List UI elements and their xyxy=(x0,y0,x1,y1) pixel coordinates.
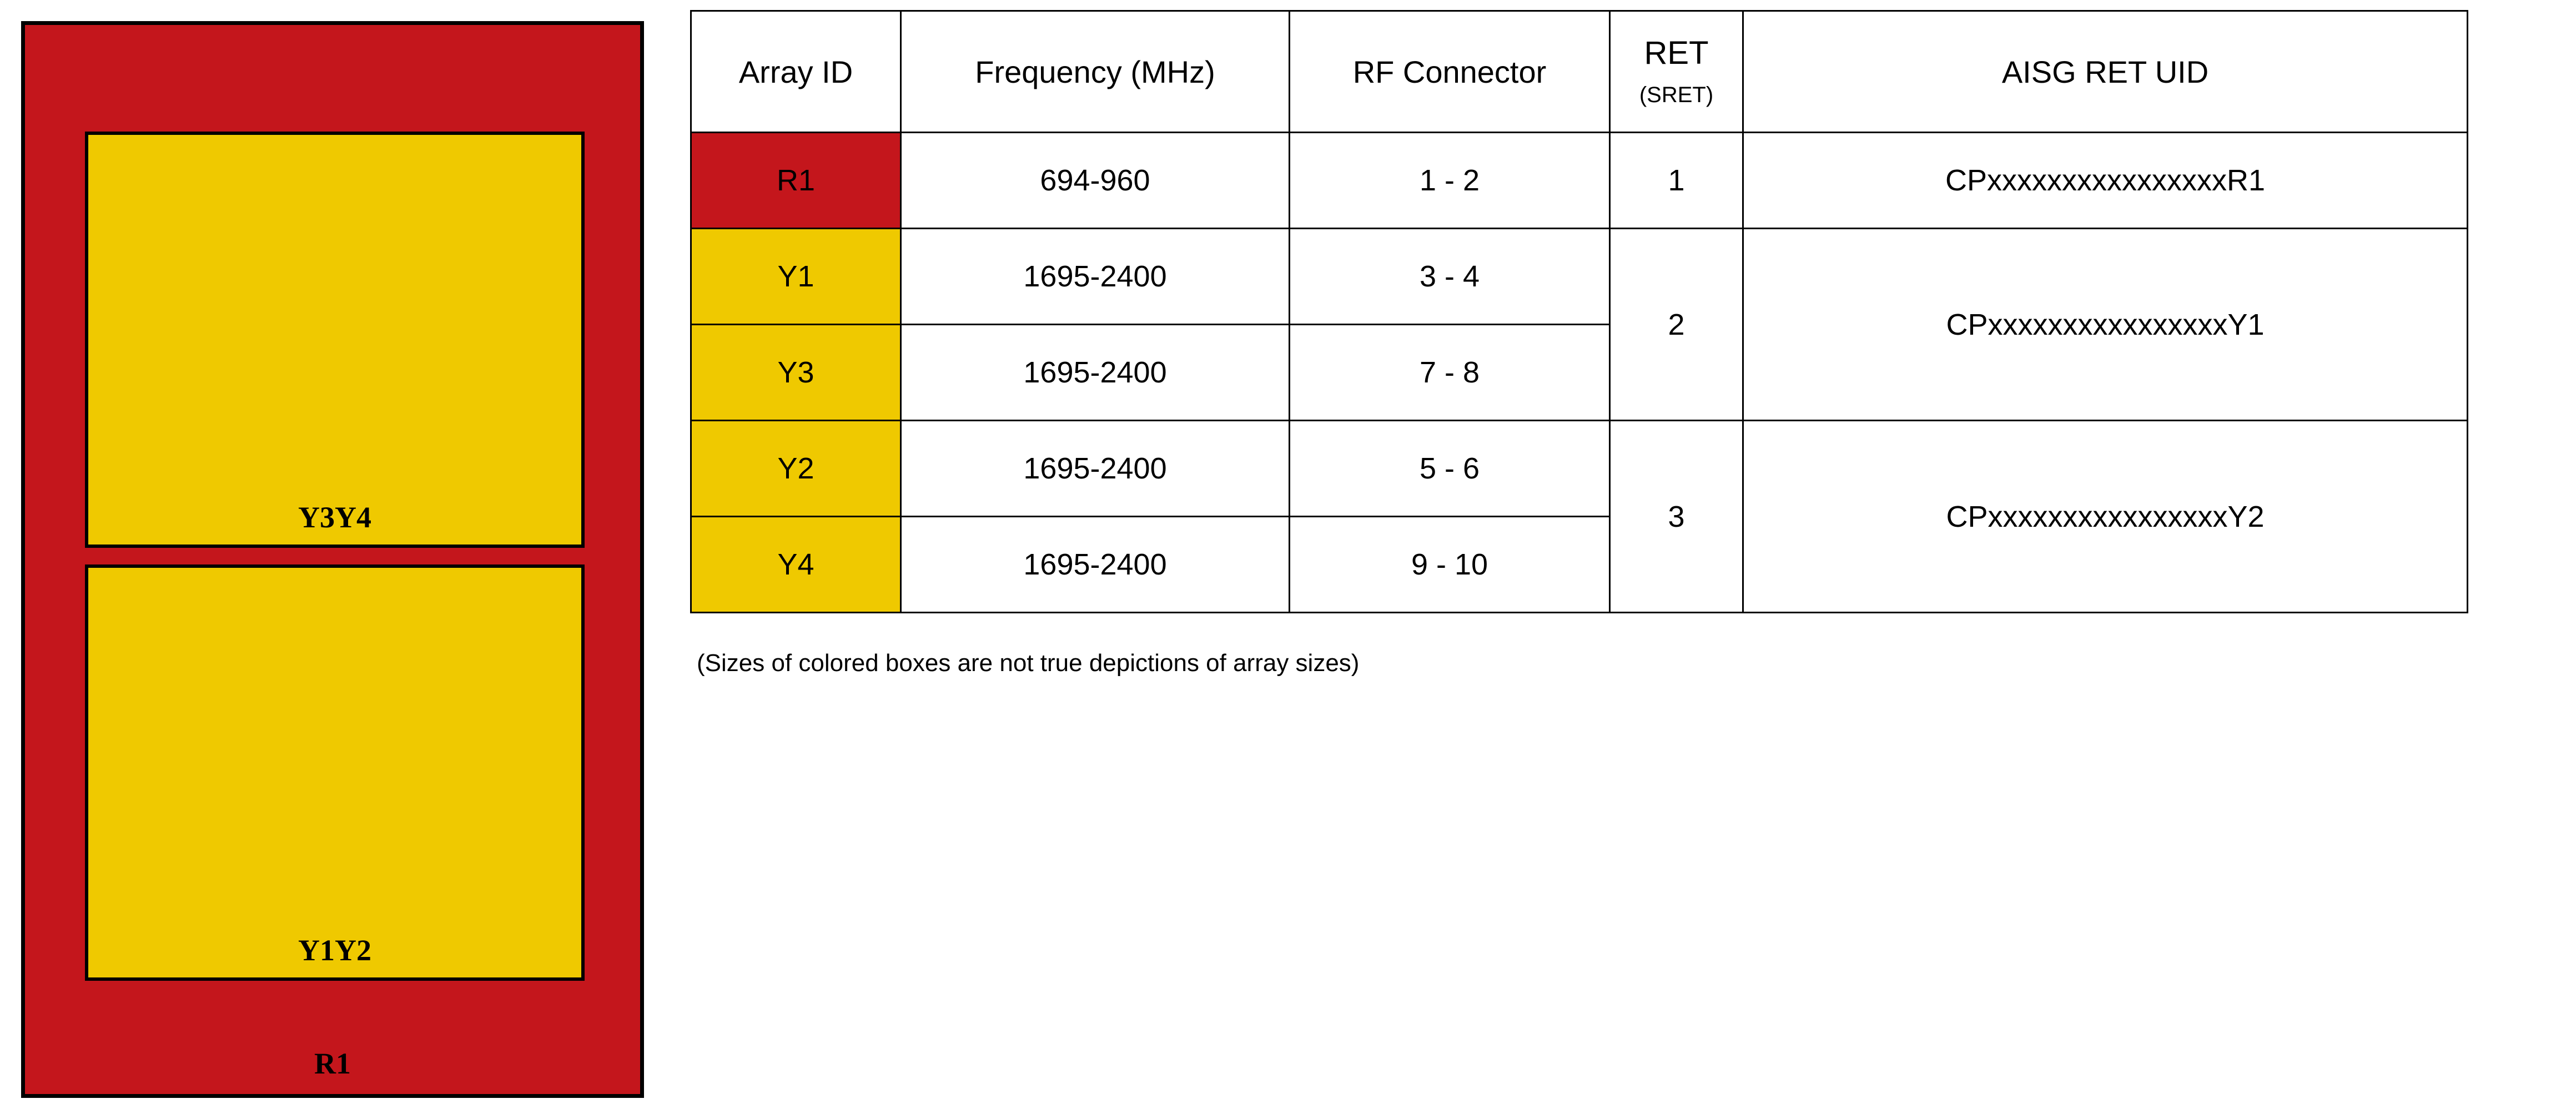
cell-rf-connector: 5 - 6 xyxy=(1290,421,1610,517)
cell-rf-connector: 1 - 2 xyxy=(1290,133,1610,229)
column-header-aisg-ret-uid: AISG RET UID xyxy=(1743,11,2468,133)
table-row: Y21695-24005 - 63CPxxxxxxxxxxxxxxxxY2 xyxy=(691,421,2468,517)
cell-frequency: 694-960 xyxy=(901,133,1290,229)
table-body: R1694-9601 - 21CPxxxxxxxxxxxxxxxxR1Y1169… xyxy=(691,133,2468,613)
cell-ret: 2 xyxy=(1610,229,1743,421)
table-row: Y11695-24003 - 42CPxxxxxxxxxxxxxxxxY1 xyxy=(691,229,2468,325)
array-box-y3y4: Y3Y4 xyxy=(85,132,585,548)
cell-frequency: 1695-2400 xyxy=(901,517,1290,613)
cell-frequency: 1695-2400 xyxy=(901,229,1290,325)
antenna-array-diagram: Y3Y4 Y1Y2 R1 xyxy=(21,21,644,1098)
cell-frequency: 1695-2400 xyxy=(901,325,1290,421)
cell-aisg-ret-uid: CPxxxxxxxxxxxxxxxxY2 xyxy=(1743,421,2468,613)
cell-array-id: R1 xyxy=(691,133,901,229)
array-spec-table: Array ID Frequency (MHz) RF Connector RE… xyxy=(690,10,2468,613)
column-header-rf-connector: RF Connector xyxy=(1290,11,1610,133)
table-row: R1694-9601 - 21CPxxxxxxxxxxxxxxxxR1 xyxy=(691,133,2468,229)
column-header-array-id: Array ID xyxy=(691,11,901,133)
column-header-ret-main: RET xyxy=(1611,37,1742,69)
cell-aisg-ret-uid: CPxxxxxxxxxxxxxxxxR1 xyxy=(1743,133,2468,229)
cell-frequency: 1695-2400 xyxy=(901,421,1290,517)
size-disclaimer-note: (Sizes of colored boxes are not true dep… xyxy=(697,649,1359,677)
column-header-frequency: Frequency (MHz) xyxy=(901,11,1290,133)
column-header-ret-sub: (SRET) xyxy=(1611,84,1742,106)
cell-array-id: Y2 xyxy=(691,421,901,517)
cell-array-id: Y1 xyxy=(691,229,901,325)
radome-label: R1 xyxy=(25,1049,640,1078)
cell-array-id: Y4 xyxy=(691,517,901,613)
cell-ret: 3 xyxy=(1610,421,1743,613)
cell-aisg-ret-uid: CPxxxxxxxxxxxxxxxxY1 xyxy=(1743,229,2468,421)
cell-ret: 1 xyxy=(1610,133,1743,229)
table-header: Array ID Frequency (MHz) RF Connector RE… xyxy=(691,11,2468,133)
table-header-row: Array ID Frequency (MHz) RF Connector RE… xyxy=(691,11,2468,133)
cell-rf-connector: 3 - 4 xyxy=(1290,229,1610,325)
cell-rf-connector: 7 - 8 xyxy=(1290,325,1610,421)
column-header-ret: RET (SRET) xyxy=(1610,11,1743,133)
cell-array-id: Y3 xyxy=(691,325,901,421)
array-box-y1y2: Y1Y2 xyxy=(85,564,585,981)
array-box-y3y4-label: Y3Y4 xyxy=(88,502,581,532)
cell-rf-connector: 9 - 10 xyxy=(1290,517,1610,613)
array-box-y1y2-label: Y1Y2 xyxy=(88,935,581,965)
